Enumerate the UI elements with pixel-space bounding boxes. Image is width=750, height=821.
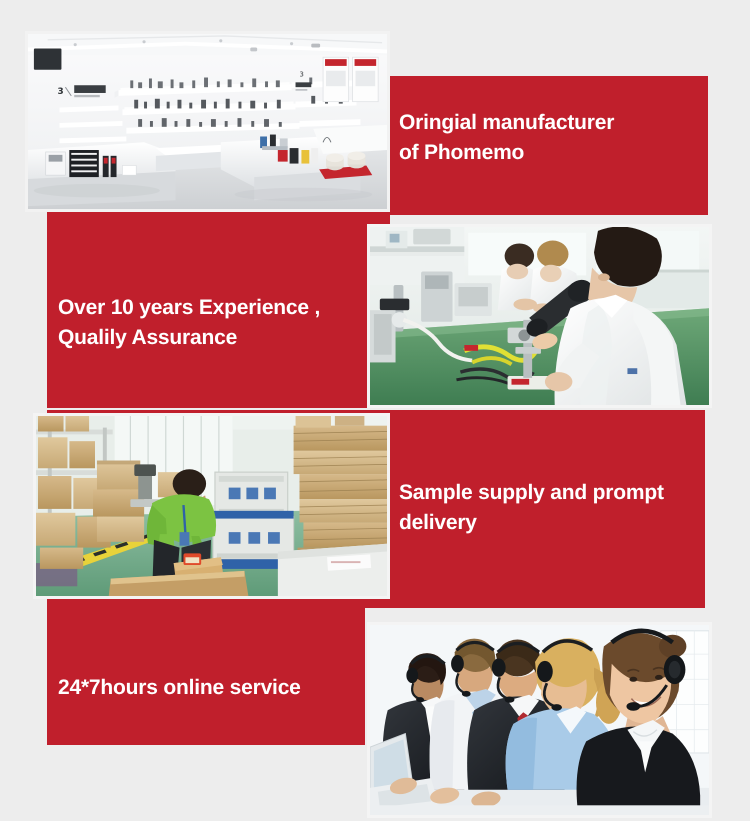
showroom-photo: 3 bbox=[25, 31, 390, 212]
warehouse-packing-photo-art bbox=[36, 416, 387, 596]
quality-inspection-photo-art bbox=[370, 227, 709, 405]
call-center-photo-art bbox=[370, 625, 709, 815]
feature-headline-sample-supply: Sample supply and prompt delivery bbox=[399, 478, 699, 538]
feature-headline-experience-quality: Over 10 years Experience , Qualily Assur… bbox=[58, 293, 378, 353]
showroom-photo-art: 3 bbox=[28, 34, 387, 209]
feature-headline-online-service: 24*7hours online service bbox=[58, 673, 358, 703]
svg-text:3: 3 bbox=[58, 87, 64, 97]
feature-headline-original-manufacturer: Oringial manufacturer of Phomemo bbox=[399, 108, 699, 168]
promotional-feature-banner: Oringial manufacturer of Phomemo bbox=[0, 0, 750, 821]
call-center-photo bbox=[367, 622, 712, 818]
warehouse-packing-photo bbox=[33, 413, 390, 599]
svg-text:3: 3 bbox=[299, 71, 303, 79]
quality-inspection-photo bbox=[367, 224, 712, 408]
